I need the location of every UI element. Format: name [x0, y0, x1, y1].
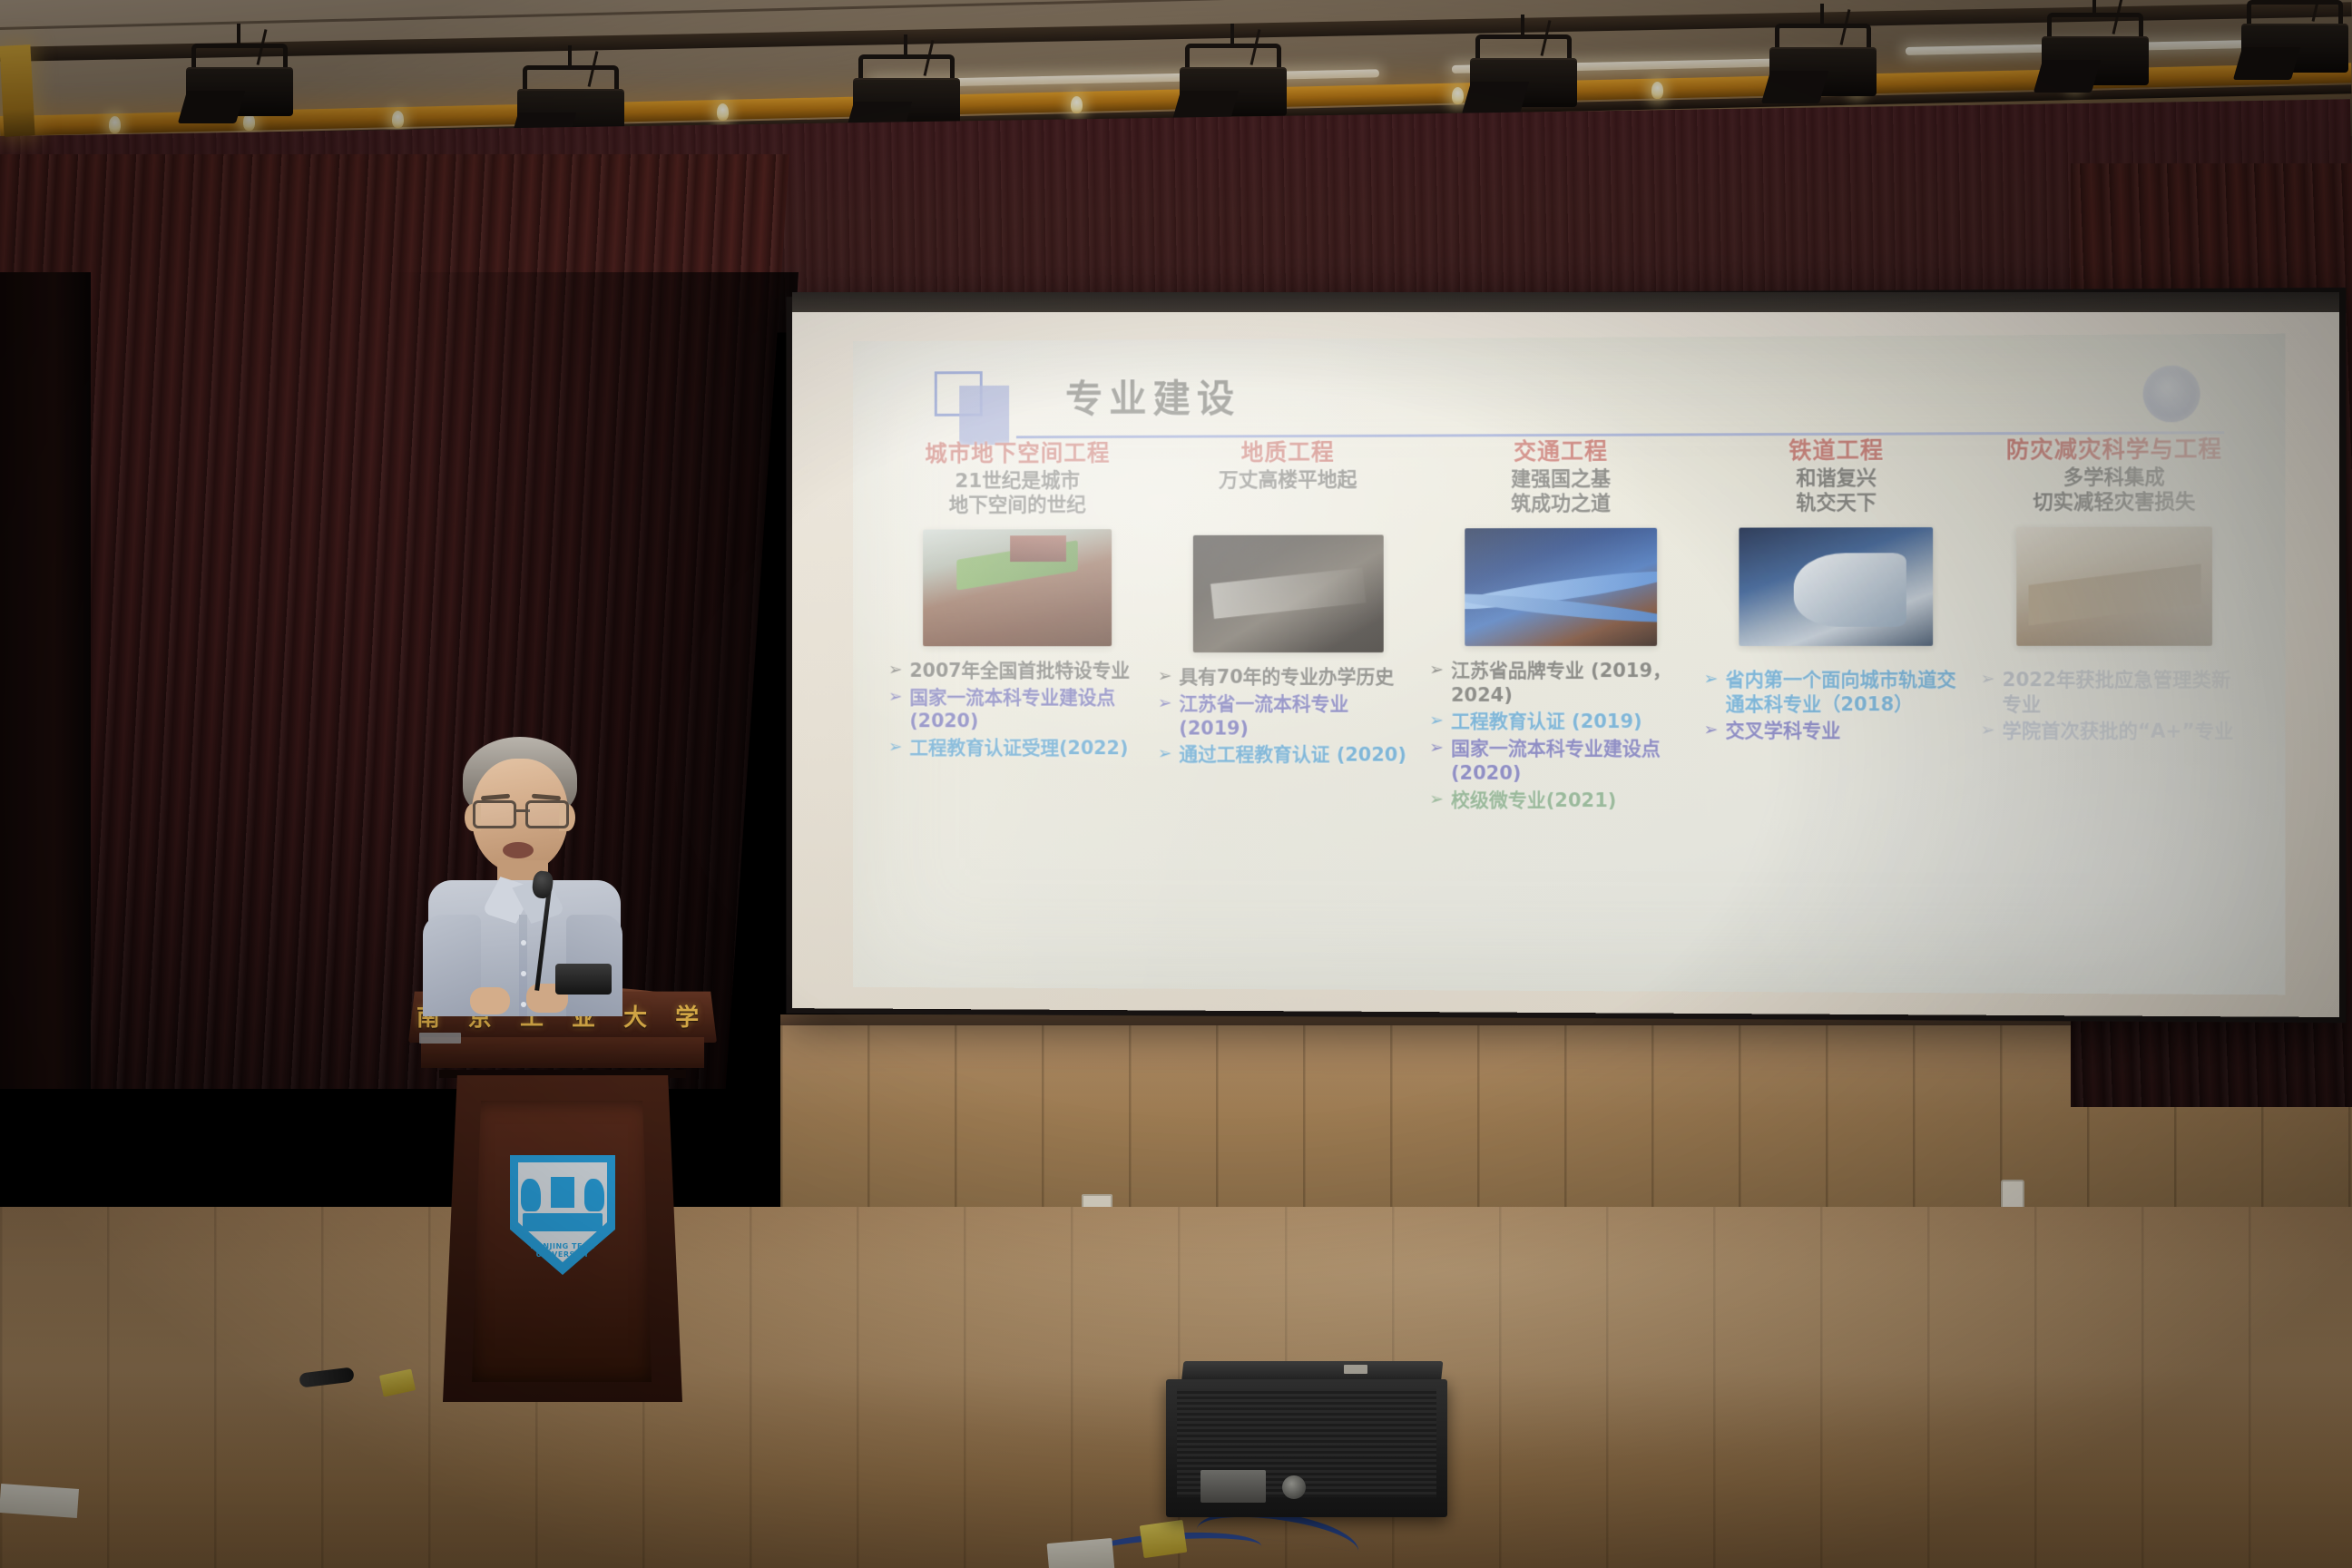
column-bullets: ➢ 2022年获批应急管理类新专业 ➢ 学院首次获批的“A+”专业: [1980, 668, 2248, 745]
column-title: 地质工程: [1158, 440, 1419, 466]
shirt-button: [521, 940, 526, 946]
monitor-badge: [1344, 1365, 1367, 1374]
bullet-text: 工程教育认证受理(2022): [909, 736, 1147, 760]
slide-column-3: 交通工程 建强国之基 筑成功之道 ➢ 江苏省品牌专业 (2019，2024) ➢: [1424, 438, 1698, 982]
bullet-text: 校级微专业(2021): [1451, 789, 1692, 813]
bullet-item: ➢ 工程教育认证受理(2022): [888, 736, 1147, 760]
shirt-button: [521, 971, 526, 976]
column-subtitle-line: 切实减轻灾害损失: [1980, 491, 2248, 516]
floor-paper: [0, 1484, 79, 1518]
mouth: [503, 842, 534, 858]
bullet-text: 省内第一个面向城市轨道交通本科专业（2018）: [1725, 668, 1969, 717]
bullet-item: ➢ 交叉学科专业: [1703, 720, 1969, 744]
bullet-text: 学院首次获批的“A+”专业: [2003, 720, 2249, 744]
bullet-item: ➢ 江苏省品牌专业 (2019，2024): [1429, 659, 1692, 708]
bullet-item: ➢ 校级微专业(2021): [1429, 789, 1692, 814]
truss-bulb: [392, 111, 404, 128]
slide-title: 专业建设: [1065, 368, 1240, 424]
column-image-highway-interchange: [1465, 527, 1657, 645]
column-bullets: ➢ 具有70年的专业办学历史 ➢ 江苏省一流本科专业(2019) ➢ 通过工程教…: [1158, 665, 1419, 768]
truss-bulb: [1071, 96, 1083, 113]
column-subtitle: 建强国之基 筑成功之道: [1429, 468, 1692, 517]
column-title: 铁道工程: [1703, 437, 1969, 464]
wall-accent-lamp: [0, 44, 35, 137]
column-subtitle: 和谐复兴 轨交天下: [1703, 467, 1969, 517]
bullet-arrow-icon: ➢: [1980, 720, 1994, 742]
column-title: 防灾减灾科学与工程: [1980, 436, 2248, 463]
square-fill-icon: [959, 386, 1009, 446]
bullet-item: ➢ 学院首次获批的“A+”专业: [1980, 720, 2248, 744]
presentation-slide: 专业建设 城市地下空间工程 21世纪是城市 地下空间的世纪 ➢: [853, 334, 2286, 995]
stage-side-pillar: [0, 272, 91, 1089]
column-title: 交通工程: [1429, 438, 1692, 465]
bullet-text: 工程教育认证 (2019): [1451, 710, 1692, 734]
podium-lip: [421, 1037, 704, 1068]
column-subtitle: 万丈高楼平地起: [1158, 469, 1419, 495]
bullet-item: ➢ 省内第一个面向城市轨道交通本科专业（2018）: [1703, 668, 1969, 717]
bullet-text: 江苏省品牌专业 (2019，2024): [1451, 659, 1692, 708]
bullet-text: 国家一流本科专业建设点(2020): [909, 685, 1147, 733]
auditorium-scene: 专业建设 城市地下空间工程 21世纪是城市 地下空间的世纪 ➢: [0, 0, 2352, 1568]
column-subtitle: 21世纪是城市 地下空间的世纪: [888, 469, 1147, 518]
stage-light-fixture: [2042, 13, 2149, 91]
podium-side-label: [419, 1033, 461, 1044]
shield-lion-left-icon: [521, 1179, 541, 1211]
stage-light-fixture: [1180, 44, 1287, 122]
bullet-arrow-icon: ➢: [1158, 665, 1172, 688]
column-image-high-speed-train: [1739, 527, 1934, 646]
bullet-item: ➢ 工程教育认证 (2019): [1429, 710, 1692, 734]
shirt-button: [521, 1002, 526, 1007]
shield-pillar-icon: [551, 1177, 574, 1208]
bullet-item: ➢ 2022年获批应急管理类新专业: [1980, 668, 2248, 717]
column-subtitle-line: 和谐复兴: [1703, 467, 1969, 493]
stage-light-fixture: [1769, 24, 1877, 102]
bullet-arrow-icon: ➢: [1703, 668, 1718, 691]
podium-control-device[interactable]: [555, 964, 612, 995]
bullet-text: 国家一流本科专业建设点(2020): [1451, 737, 1692, 786]
truss-bulb: [1452, 87, 1464, 104]
bullet-item: ➢ 2007年全国首批特设专业: [888, 659, 1147, 683]
column-subtitle-line: 建强国之基: [1429, 468, 1692, 494]
column-subtitle-line: 轨交天下: [1703, 492, 1969, 517]
slide-column-5: 防灾减灾科学与工程 多学科集成 切实减轻灾害损失 ➢ 2022年获批应急管理类新…: [1975, 436, 2254, 985]
projection-screen: 专业建设 城市地下空间工程 21世纪是城市 地下空间的世纪 ➢: [853, 334, 2286, 995]
slide-column-4: 铁道工程 和谐复兴 轨交天下 ➢ 省内第一个面向城市轨道交通本科专业（2018）…: [1698, 437, 1975, 984]
bullet-text: 江苏省一流本科专业(2019): [1179, 692, 1418, 741]
column-subtitle-line: 多学科集成: [1980, 466, 2248, 492]
bullet-arrow-icon: ➢: [1158, 691, 1172, 714]
slide-column-1: 城市地下空间工程 21世纪是城市 地下空间的世纪 ➢ 2007年全国首批特设专业…: [883, 441, 1152, 980]
stage-light-fixture: [1470, 34, 1577, 113]
column-subtitle-line: 21世纪是城市: [888, 469, 1147, 494]
bullet-arrow-icon: ➢: [1703, 720, 1718, 742]
column-subtitle: 多学科集成 切实减轻灾害损失: [1980, 466, 2248, 516]
bullet-arrow-icon: ➢: [888, 736, 903, 759]
slide-columns: 城市地下空间工程 21世纪是城市 地下空间的世纪 ➢ 2007年全国首批特设专业…: [883, 436, 2254, 985]
bullet-arrow-icon: ➢: [888, 685, 903, 708]
projection-screen-topband: [792, 292, 2339, 312]
wall-light-switch[interactable]: [2001, 1180, 2024, 1210]
bullet-item: ➢ 通过工程教育认证 (2020): [1158, 743, 1419, 768]
column-bullets: ➢ 省内第一个面向城市轨道交通本科专业（2018） ➢ 交叉学科专业: [1703, 668, 1969, 744]
floor-paper: [1047, 1538, 1115, 1568]
bullet-text: 交叉学科专业: [1725, 720, 1969, 744]
bullet-arrow-icon: ➢: [1429, 789, 1444, 811]
slide-column-2: 地质工程 万丈高楼平地起 ➢ 具有70年的专业办学历史 ➢ 江苏省一流本科专业(…: [1152, 440, 1424, 982]
monitor-port: [1200, 1470, 1266, 1503]
stage-monitor-speaker: [1166, 1361, 1447, 1520]
bullet-text: 具有70年的专业办学历史: [1179, 665, 1418, 690]
emblem-label: NANJING TECH UNIVERSITY: [510, 1242, 615, 1259]
column-subtitle-line: 地下空间的世纪: [888, 494, 1147, 518]
university-emblem: NANJING TECH UNIVERSITY: [510, 1155, 615, 1275]
shield-banner: [523, 1213, 603, 1231]
bullet-text: 通过工程教育认证 (2020): [1179, 743, 1418, 768]
bullet-arrow-icon: ➢: [1980, 668, 1994, 691]
floor-tape-marker: [1140, 1520, 1188, 1558]
truss-bulb: [109, 116, 121, 133]
shield-lion-right-icon: [584, 1179, 604, 1211]
bullet-text: 2022年获批应急管理类新专业: [2003, 668, 2249, 717]
column-image-geology-core: [1192, 534, 1383, 652]
bullet-text: 2007年全国首批特设专业: [909, 659, 1147, 683]
bullet-item: ➢ 国家一流本科专业建设点(2020): [888, 685, 1147, 733]
bullet-arrow-icon: ➢: [1158, 743, 1172, 766]
monitor-knob[interactable]: [1282, 1475, 1306, 1499]
lectern-podium: 南 京 工 业 大 学 NANJING TECH UNIVERSITY: [408, 985, 717, 1411]
column-image-hazard-block-diagram: [2016, 526, 2212, 645]
truss-bulb: [717, 103, 729, 121]
bullet-item: ➢ 具有70年的专业办学历史: [1158, 665, 1419, 690]
column-bullets: ➢ 2007年全国首批特设专业 ➢ 国家一流本科专业建设点(2020) ➢ 工程…: [888, 659, 1147, 761]
glasses-icon: [472, 800, 570, 824]
column-subtitle-line: 万丈高楼平地起: [1158, 469, 1419, 495]
truss-bulb: [1651, 82, 1663, 99]
bullet-item: ➢ 江苏省一流本科专业(2019): [1158, 691, 1419, 740]
hand-left: [470, 987, 510, 1014]
slide-header: 专业建设: [883, 358, 2254, 442]
column-image-underground-space: [923, 529, 1112, 646]
bullet-arrow-icon: ➢: [1429, 737, 1444, 759]
column-title: 城市地下空间工程: [888, 441, 1147, 467]
bullet-arrow-icon: ➢: [888, 659, 903, 681]
column-subtitle-line: 筑成功之道: [1429, 492, 1692, 517]
stage-light-fixture: [2241, 0, 2348, 78]
column-bullets: ➢ 江苏省品牌专业 (2019，2024) ➢ 工程教育认证 (2019) ➢ …: [1429, 659, 1692, 814]
stage-light-fixture: [186, 44, 293, 122]
bullet-item: ➢ 国家一流本科专业建设点(2020): [1429, 737, 1692, 786]
university-logo-icon: [2143, 366, 2200, 423]
bullet-arrow-icon: ➢: [1429, 710, 1444, 732]
bullet-arrow-icon: ➢: [1429, 659, 1444, 681]
